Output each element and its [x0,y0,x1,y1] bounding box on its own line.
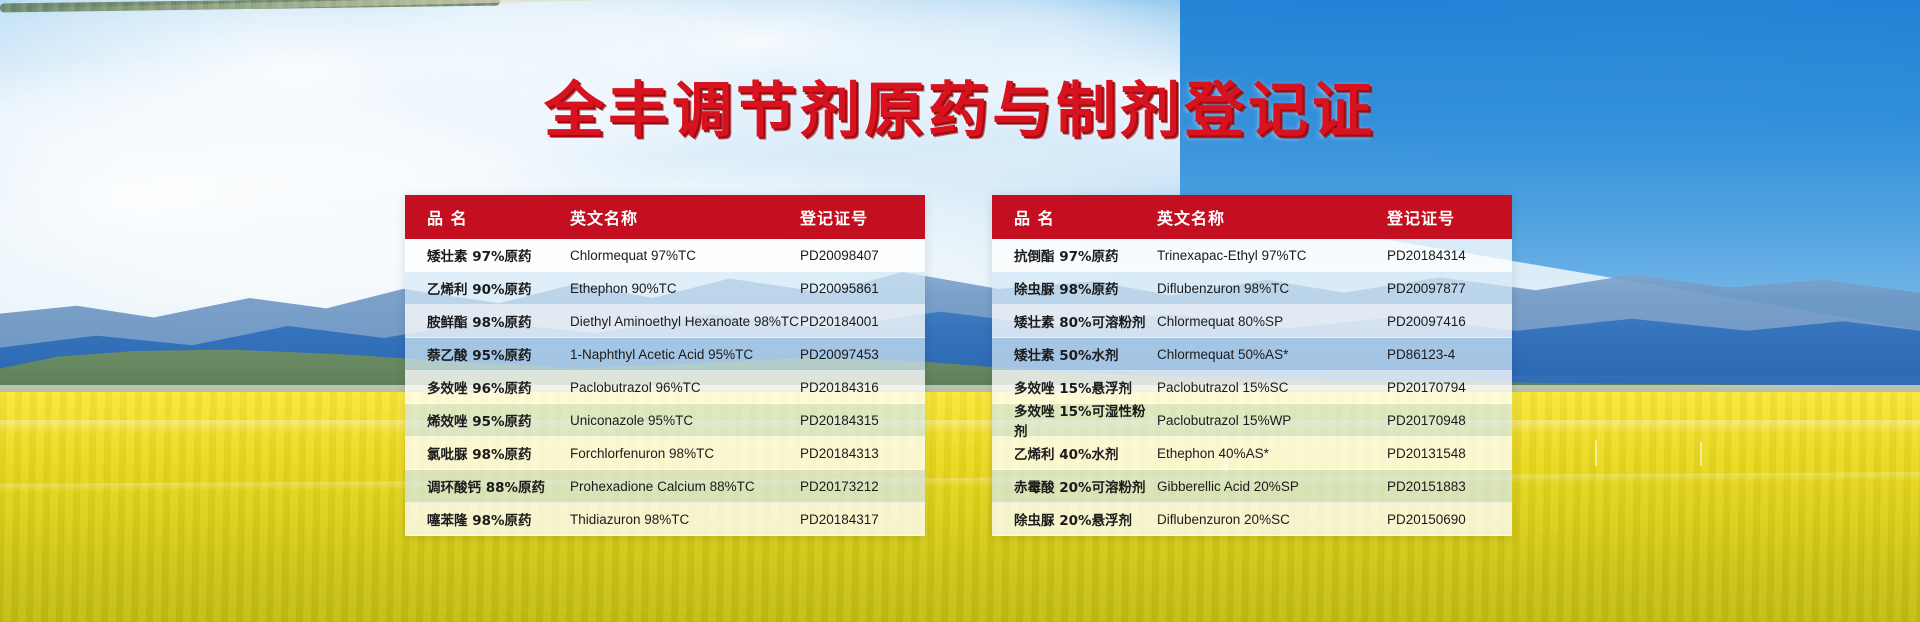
cell-registration-number: PD20184317 [800,512,925,527]
cell-product-name: 胺鲜酯 98%原药 [405,311,570,331]
cell-product-name: 多效唑 15%可湿性粉剂 [992,400,1157,440]
cell-product-name: 赤霉酸 20%可溶粉剂 [992,476,1157,496]
cell-product-name: 矮壮素 97%原药 [405,245,570,265]
table-body: 抗倒酯 97%原药Trinexapac-Ethyl 97%TCPD2018431… [992,239,1512,536]
table-body: 矮壮素 97%原药Chlormequat 97%TCPD20098407乙烯利 … [405,239,925,536]
registration-table-right: 品 名 英文名称 登记证号 抗倒酯 97%原药Trinexapac-Ethyl … [992,195,1512,536]
power-pylon-icon [1595,440,1597,466]
cell-english-name: 1-Naphthyl Acetic Acid 95%TC [570,347,800,362]
cell-english-name: Paclobutrazol 15%SC [1157,380,1387,395]
cell-english-name: Forchlorfenuron 98%TC [570,446,800,461]
cell-registration-number: PD20184313 [800,446,925,461]
cell-english-name: Chlormequat 97%TC [570,248,800,263]
field-highlight-band [0,420,1920,434]
cell-product-name: 除虫脲 20%悬浮剂 [992,509,1157,529]
table-header-row: 品 名 英文名称 登记证号 [992,195,1512,239]
cell-english-name: Trinexapac-Ethyl 97%TC [1157,248,1387,263]
table-row: 噻苯隆 98%原药Thidiazuron 98%TCPD20184317 [405,503,925,536]
cell-product-name: 乙烯利 90%原药 [405,278,570,298]
cell-english-name: Ethephon 40%AS* [1157,446,1387,461]
banner-stage: 全丰调节剂原药与制剂登记证 品 名 英文名称 登记证号 矮壮素 97%原药Chl… [0,0,1920,622]
table-row: 氯吡脲 98%原药Forchlorfenuron 98%TCPD20184313 [405,437,925,470]
table-row: 矮壮素 80%可溶粉剂Chlormequat 80%SPPD20097416 [992,305,1512,338]
cell-english-name: Paclobutrazol 15%WP [1157,413,1387,428]
cell-product-name: 烯效唑 95%原药 [405,410,570,430]
cell-registration-number: PD20131548 [1387,446,1512,461]
cell-registration-number: PD20173212 [800,479,925,494]
cell-registration-number: PD20097877 [1387,281,1512,296]
column-header-english: 英文名称 [1157,205,1387,229]
table-row: 矮壮素 50%水剂Chlormequat 50%AS*PD86123-4 [992,338,1512,371]
cell-registration-number: PD20170948 [1387,413,1512,428]
table-header-row: 品 名 英文名称 登记证号 [405,195,925,239]
column-header-reg: 登记证号 [800,205,925,229]
cell-registration-number: PD20095861 [800,281,925,296]
table-row: 多效唑 96%原药Paclobutrazol 96%TCPD20184316 [405,371,925,404]
table-row: 乙烯利 90%原药Ethephon 90%TCPD20095861 [405,272,925,305]
table-row: 烯效唑 95%原药Uniconazole 95%TCPD20184315 [405,404,925,437]
cell-english-name: Thidiazuron 98%TC [570,512,800,527]
page-title: 全丰调节剂原药与制剂登记证 [0,62,1920,149]
cell-english-name: Ethephon 90%TC [570,281,800,296]
cell-english-name: Uniconazole 95%TC [570,413,800,428]
cell-registration-number: PD20184001 [800,314,925,329]
table-row: 多效唑 15%可湿性粉剂Paclobutrazol 15%WPPD2017094… [992,404,1512,437]
cell-product-name: 矮壮素 80%可溶粉剂 [992,311,1157,331]
cell-product-name: 多效唑 96%原药 [405,377,570,397]
table-row: 调环酸钙 88%原药Prohexadione Calcium 88%TCPD20… [405,470,925,503]
cell-english-name: Chlormequat 80%SP [1157,314,1387,329]
cell-english-name: Diethyl Aminoethyl Hexanoate 98%TC [570,314,800,329]
cell-english-name: Gibberellic Acid 20%SP [1157,479,1387,494]
cell-english-name: Diflubenzuron 20%SC [1157,512,1387,527]
column-header-english: 英文名称 [570,205,800,229]
column-header-reg: 登记证号 [1387,205,1512,229]
cell-product-name: 氯吡脲 98%原药 [405,443,570,463]
cell-registration-number: PD20098407 [800,248,925,263]
table-row: 赤霉酸 20%可溶粉剂Gibberellic Acid 20%SPPD20151… [992,470,1512,503]
cell-product-name: 调环酸钙 88%原药 [405,476,570,496]
cell-product-name: 噻苯隆 98%原药 [405,509,570,529]
cell-registration-number: PD20184316 [800,380,925,395]
cell-english-name: Prohexadione Calcium 88%TC [570,479,800,494]
cell-product-name: 乙烯利 40%水剂 [992,443,1157,463]
cell-product-name: 矮壮素 50%水剂 [992,344,1157,364]
table-row: 萘乙酸 95%原药1-Naphthyl Acetic Acid 95%TCPD2… [405,338,925,371]
cell-english-name: Chlormequat 50%AS* [1157,347,1387,362]
registration-table-left: 品 名 英文名称 登记证号 矮壮素 97%原药Chlormequat 97%TC… [405,195,925,536]
table-row: 乙烯利 40%水剂Ethephon 40%AS*PD20131548 [992,437,1512,470]
cell-product-name: 萘乙酸 95%原药 [405,344,570,364]
cell-registration-number: PD20184314 [1387,248,1512,263]
cell-registration-number: PD20097416 [1387,314,1512,329]
table-row: 除虫脲 20%悬浮剂Diflubenzuron 20%SCPD20150690 [992,503,1512,536]
cell-product-name: 除虫脲 98%原药 [992,278,1157,298]
power-pylon-icon [1700,442,1702,466]
cell-registration-number: PD20150690 [1387,512,1512,527]
cell-registration-number: PD20184315 [800,413,925,428]
cell-english-name: Paclobutrazol 96%TC [570,380,800,395]
cell-product-name: 抗倒酯 97%原药 [992,245,1157,265]
column-header-name: 品 名 [405,205,570,229]
table-row: 抗倒酯 97%原药Trinexapac-Ethyl 97%TCPD2018431… [992,239,1512,272]
cell-product-name: 多效唑 15%悬浮剂 [992,377,1157,397]
cell-english-name: Diflubenzuron 98%TC [1157,281,1387,296]
table-row: 除虫脲 98%原药Diflubenzuron 98%TCPD20097877 [992,272,1512,305]
table-row: 胺鲜酯 98%原药Diethyl Aminoethyl Hexanoate 98… [405,305,925,338]
cell-registration-number: PD86123-4 [1387,347,1512,362]
table-row: 矮壮素 97%原药Chlormequat 97%TCPD20098407 [405,239,925,272]
column-header-name: 品 名 [992,205,1157,229]
cell-registration-number: PD20151883 [1387,479,1512,494]
cell-registration-number: PD20170794 [1387,380,1512,395]
cell-registration-number: PD20097453 [800,347,925,362]
